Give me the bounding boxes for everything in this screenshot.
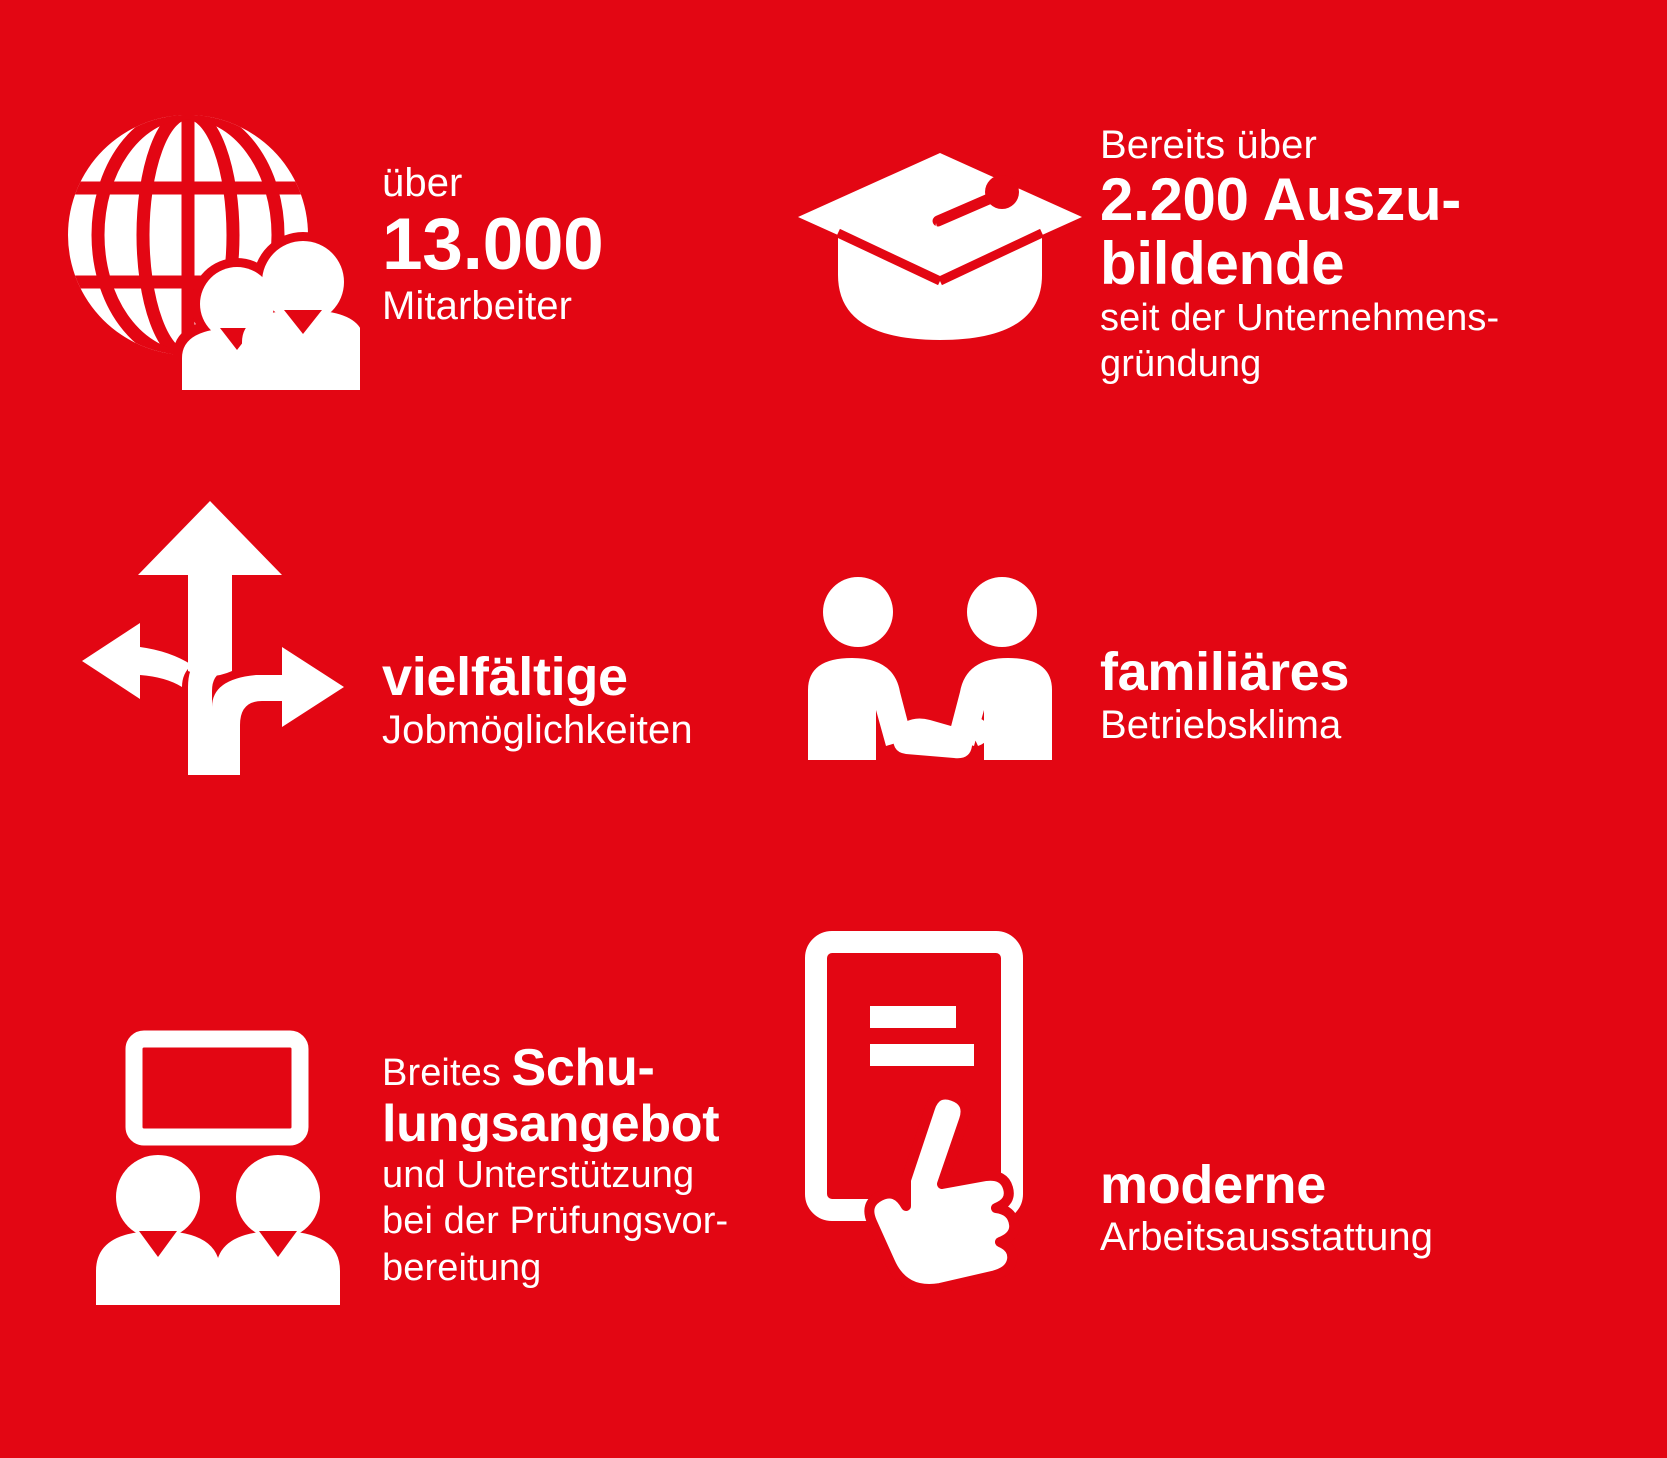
stat-item-apprentices: Bereits über 2.200 Auszu- bildende seit … [790,105,1630,405]
three-way-arrow-icon [60,475,360,775]
stat-text-equipment: moderne Arbeitsausstattung [1090,970,1590,1260]
training-headline-line1-wrap: Breites Schu- [382,1039,800,1097]
stat-text-apprentices: Bereits über 2.200 Auszu- bildende seit … [1090,123,1630,387]
jobs-post-label: Jobmöglichkeiten [382,708,780,753]
infographic-canvas: über 13.000 Mitarbeiter [0,0,1667,1458]
equipment-headline: moderne [1100,1155,1590,1215]
employees-post-label: Mitarbeiter [382,284,760,329]
stat-item-equipment: moderne Arbeitsausstattung [790,920,1590,1310]
training-post-line1: und Unterstützung [382,1152,800,1198]
stat-item-climate: familiäres Betriebsklima [790,560,1550,780]
stat-item-training: Breites Schu- lungsangebot und Unterstüt… [60,1010,800,1320]
equipment-post-label: Arbeitsausstattung [1100,1215,1590,1260]
stat-item-jobs: vielfältige Jobmöglichkeiten [60,470,780,780]
tablet-hand-icon [790,930,1090,1300]
climate-post-label: Betriebsklima [1100,703,1550,748]
stat-text-jobs: vielfältige Jobmöglichkeiten [360,497,780,752]
graduation-cap-icon [790,125,1090,385]
employees-headline: 13.000 [382,206,760,285]
globe-people-icon [60,100,360,390]
apprentices-post-line2: gründung [1100,342,1630,388]
training-pre-label: Breites [382,1052,501,1094]
training-headline-line2: lungsangebot [382,1097,800,1152]
presentation-people-icon [60,1025,360,1305]
stat-text-climate: familiäres Betriebsklima [1090,592,1550,747]
training-headline-line1: Schu- [512,1039,655,1097]
stat-text-employees: über 13.000 Mitarbeiter [360,161,760,329]
training-post-line2: bei der Prüfungsvor- [382,1198,800,1244]
training-post-line3: bereitung [382,1245,800,1291]
jobs-headline: vielfältige [382,647,780,707]
apprentices-pre-label: Bereits über [1100,123,1630,168]
climate-headline: familiäres [1100,642,1550,702]
apprentices-post-line1: seit der Unternehmens- [1100,296,1630,342]
stat-text-training: Breites Schu- lungsangebot und Unterstüt… [360,1039,800,1291]
stat-item-employees: über 13.000 Mitarbeiter [60,95,760,395]
apprentices-headline-line1: 2.200 Auszu- [1100,168,1630,232]
apprentices-headline-line2: bildende [1100,232,1630,296]
handshake-icon [790,570,1090,770]
employees-pre-label: über [382,161,760,206]
